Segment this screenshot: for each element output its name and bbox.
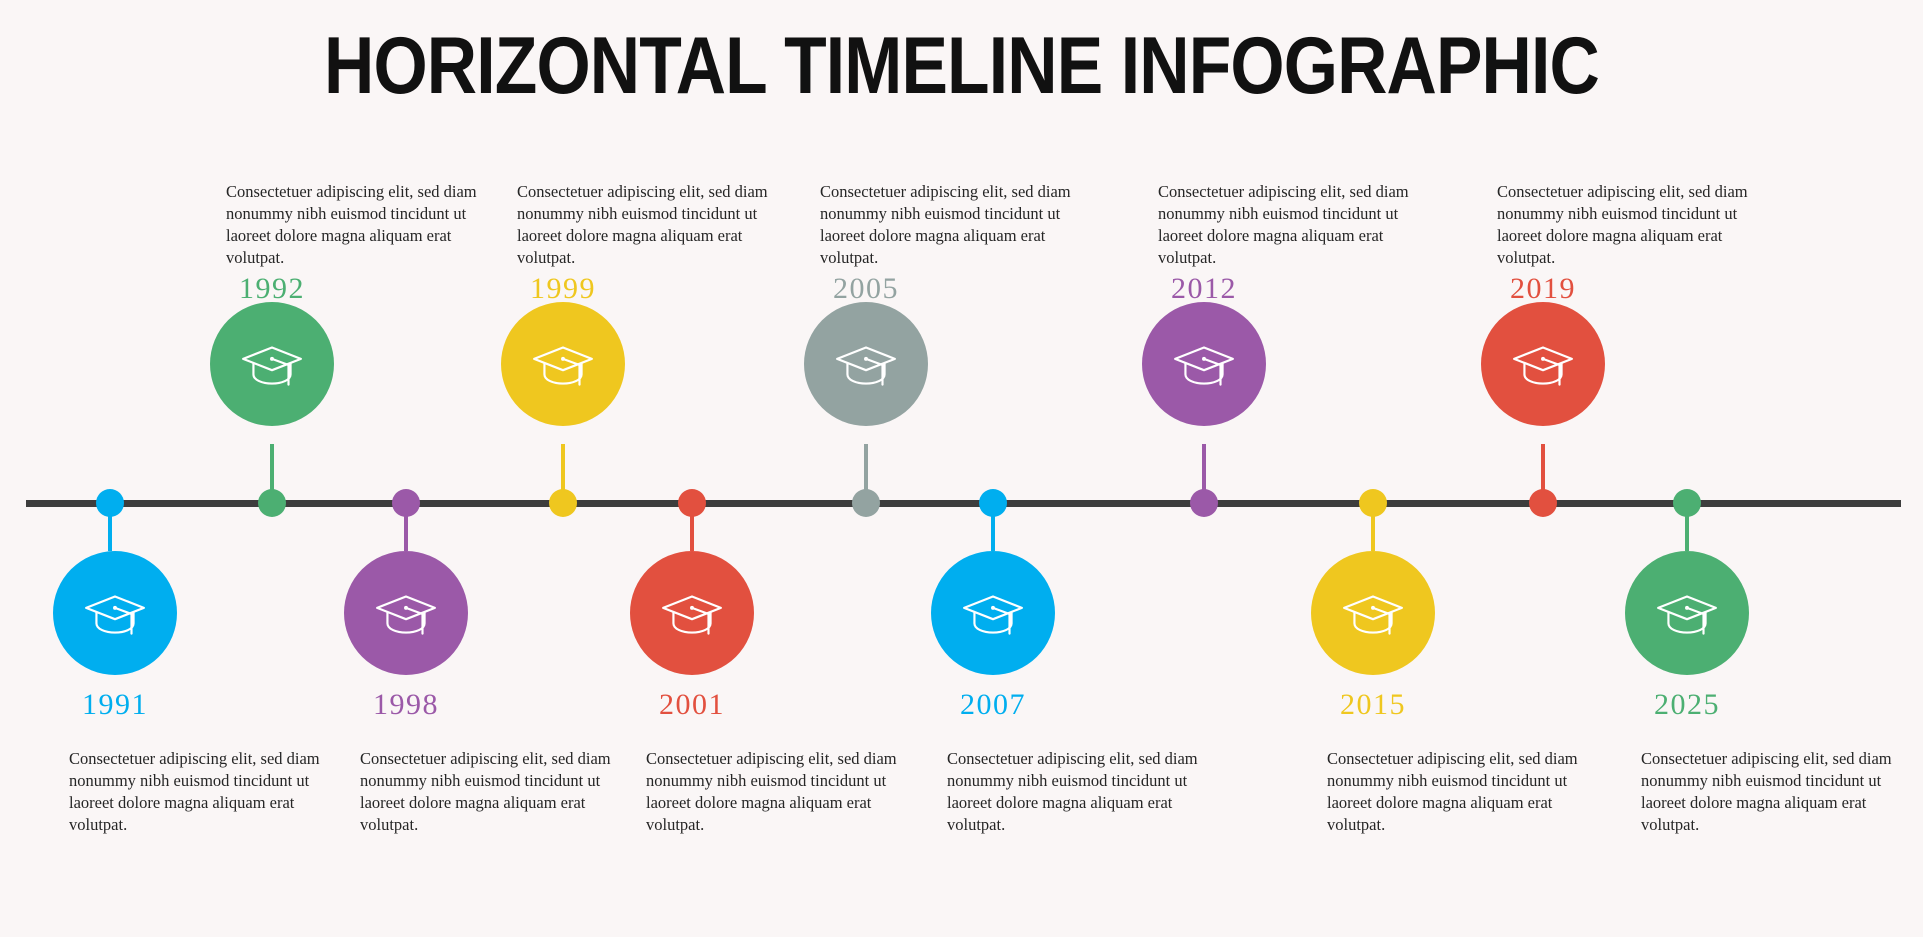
milestone-icon-circle[interactable] <box>1142 302 1266 426</box>
milestone-year: 2005 <box>716 274 1016 304</box>
milestone-year: 1999 <box>413 274 713 304</box>
milestone-year: 2015 <box>1223 690 1523 720</box>
graduation-cap-icon <box>82 580 148 646</box>
connector-stem <box>561 444 565 500</box>
milestone-year: 1992 <box>122 274 422 304</box>
connector-stem <box>404 500 408 551</box>
connector-stem <box>270 444 274 500</box>
connector-stem <box>690 500 694 551</box>
milestone-icon-circle[interactable] <box>210 302 334 426</box>
graduation-cap-icon <box>833 331 899 397</box>
milestone-description: Consectetuer adipiscing elit, sed diam n… <box>1327 748 1595 836</box>
graduation-cap-icon <box>1510 331 1576 397</box>
milestone-icon-circle[interactable] <box>501 302 625 426</box>
milestone-year: 1991 <box>0 690 265 720</box>
connector-stem <box>1371 500 1375 551</box>
milestone-icon-circle[interactable] <box>804 302 928 426</box>
graduation-cap-icon <box>530 331 596 397</box>
connector-stem <box>864 444 868 500</box>
milestone-description: Consectetuer adipiscing elit, sed diam n… <box>1497 181 1765 269</box>
milestone-description: Consectetuer adipiscing elit, sed diam n… <box>360 748 628 836</box>
milestone-icon-circle[interactable] <box>630 551 754 675</box>
milestone-icon-circle[interactable] <box>1311 551 1435 675</box>
milestone-description: Consectetuer adipiscing elit, sed diam n… <box>517 181 785 269</box>
milestone-icon-circle[interactable] <box>53 551 177 675</box>
connector-stem <box>108 500 112 551</box>
graduation-cap-icon <box>373 580 439 646</box>
milestone-icon-circle[interactable] <box>1625 551 1749 675</box>
connector-stem <box>1685 500 1689 551</box>
connector-stem <box>1202 444 1206 500</box>
milestone-year: 2019 <box>1393 274 1693 304</box>
milestone-year: 2001 <box>542 690 842 720</box>
graduation-cap-icon <box>1340 580 1406 646</box>
milestone-description: Consectetuer adipiscing elit, sed diam n… <box>226 181 494 269</box>
graduation-cap-icon <box>239 331 305 397</box>
milestone-year: 2025 <box>1537 690 1837 720</box>
milestone-description: Consectetuer adipiscing elit, sed diam n… <box>69 748 337 836</box>
milestone-icon-circle[interactable] <box>931 551 1055 675</box>
graduation-cap-icon <box>659 580 725 646</box>
milestone-year: 2012 <box>1054 274 1354 304</box>
milestone-description: Consectetuer adipiscing elit, sed diam n… <box>1641 748 1909 836</box>
milestone-year: 2007 <box>843 690 1143 720</box>
milestone-description: Consectetuer adipiscing elit, sed diam n… <box>1158 181 1426 269</box>
page-title: HORIZONTAL TIMELINE INFOGRAPHIC <box>135 24 1789 109</box>
milestone-description: Consectetuer adipiscing elit, sed diam n… <box>646 748 914 836</box>
graduation-cap-icon <box>1654 580 1720 646</box>
timeline-infographic: HORIZONTAL TIMELINE INFOGRAPHIC 1991Cons… <box>0 0 1923 937</box>
milestone-icon-circle[interactable] <box>1481 302 1605 426</box>
graduation-cap-icon <box>1171 331 1237 397</box>
milestone-description: Consectetuer adipiscing elit, sed diam n… <box>947 748 1215 836</box>
timeline-axis <box>26 500 1901 507</box>
milestone-description: Consectetuer adipiscing elit, sed diam n… <box>820 181 1088 269</box>
milestone-icon-circle[interactable] <box>344 551 468 675</box>
graduation-cap-icon <box>960 580 1026 646</box>
milestone-year: 1998 <box>256 690 556 720</box>
connector-stem <box>991 500 995 551</box>
connector-stem <box>1541 444 1545 500</box>
